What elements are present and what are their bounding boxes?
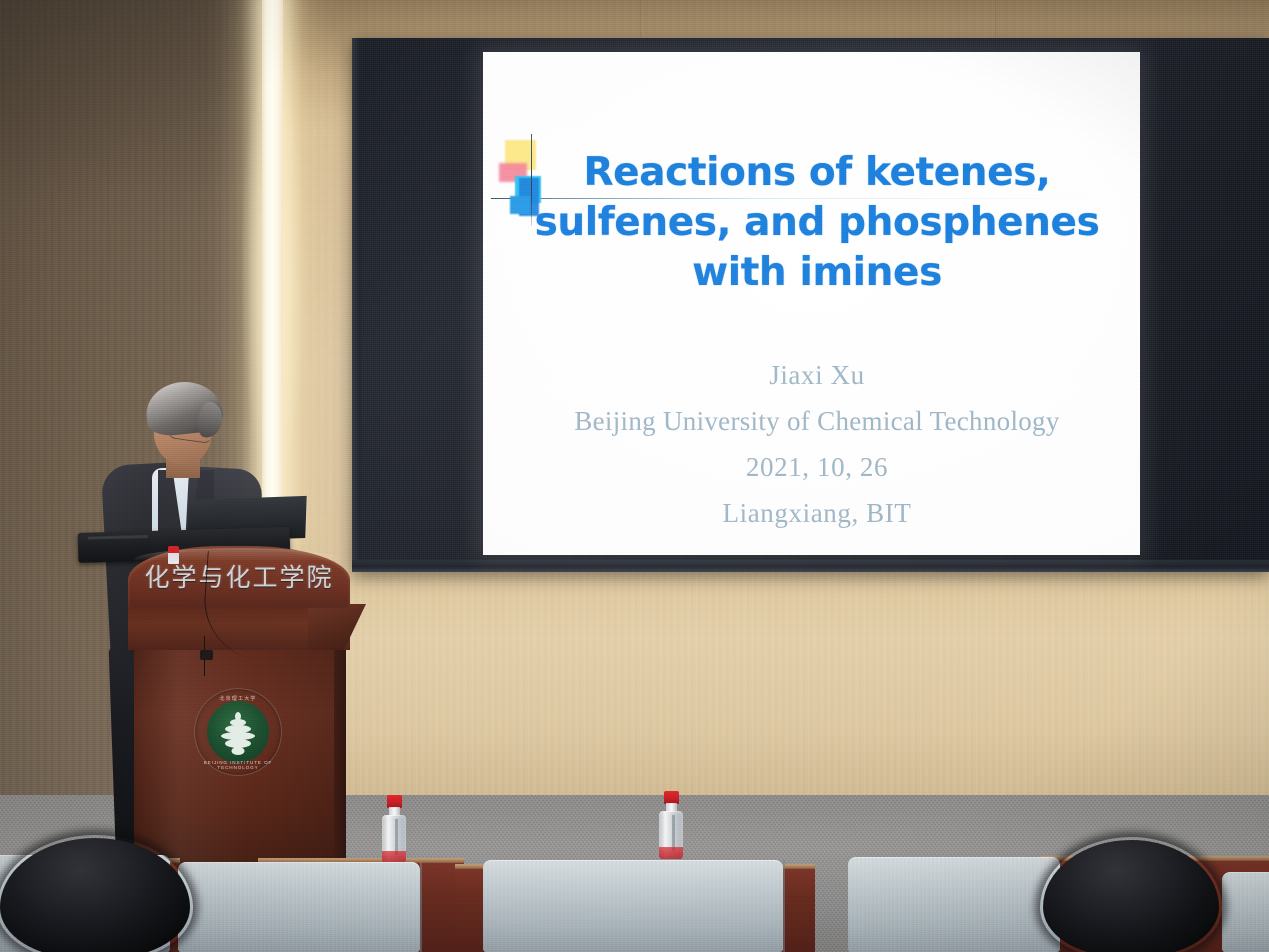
slide-affiliation: Beijing University of Chemical Technolog… — [497, 398, 1137, 444]
slide-faint-mark: · — [1095, 542, 1097, 548]
bottle-on-podium — [168, 546, 179, 564]
bottle-highlight — [672, 815, 675, 851]
water-bottle — [657, 791, 685, 859]
podium: 化学与化工学院 北京理工大学 BEIJING INSTITUTE OF TECH… — [112, 546, 360, 876]
water-bottle — [380, 795, 408, 863]
audience-head — [1043, 840, 1219, 952]
laptop-lid-highlight — [88, 535, 148, 540]
chair — [848, 857, 1060, 952]
bottle-highlight — [395, 819, 398, 855]
podium-neck-side — [308, 604, 366, 650]
emblem-ring-text-bottom: BEIJING INSTITUTE OF TECHNOLOGY — [194, 760, 282, 770]
chair-seam — [783, 860, 785, 952]
slide-title: Reactions of ketenes, sulfenes, and phos… — [507, 148, 1127, 298]
chair-seam — [420, 862, 422, 952]
slide-date: 2021, 10, 26 — [497, 444, 1137, 490]
chair — [1222, 872, 1269, 952]
microphone-connector — [200, 650, 213, 660]
podium-emblem: 北京理工大学 BEIJING INSTITUTE OF TECHNOLOGY — [194, 688, 282, 776]
projected-slide: Reactions of ketenes, sulfenes, and phos… — [483, 52, 1140, 555]
emblem-center — [207, 701, 269, 763]
podium-body-side — [334, 646, 346, 874]
slide-title-line-2: sulfenes, and phosphenes — [507, 198, 1127, 248]
slide-author: Jiaxi Xu — [497, 352, 1137, 398]
chair — [178, 862, 420, 952]
slide-title-line-1: Reactions of ketenes, — [507, 148, 1127, 198]
slide-title-line-3: with imines — [507, 248, 1127, 298]
wall-wood-panel-lower — [283, 570, 1269, 798]
bottle-label — [659, 847, 683, 859]
audience-head — [0, 838, 190, 952]
screen-left-edge — [352, 38, 361, 572]
chair — [483, 860, 783, 952]
wall-led-light-strip — [262, 0, 283, 534]
lecture-hall-scene: Reactions of ketenes, sulfenes, and phos… — [0, 0, 1269, 952]
slide-venue: Liangxiang, BIT — [497, 490, 1137, 536]
screen-bottom-lip — [352, 560, 1269, 572]
slide-subtitle-block: Jiaxi Xu Beijing University of Chemical … — [497, 352, 1137, 536]
